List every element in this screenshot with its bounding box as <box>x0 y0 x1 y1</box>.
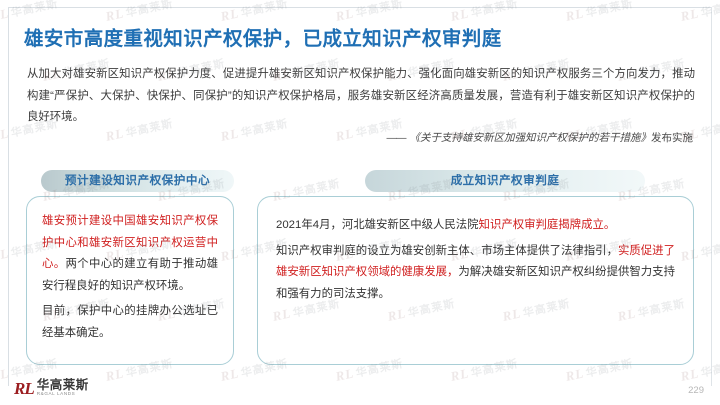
panel-left-paragraph-1-rest: 两个中心的建立有助于推动雄安行程良好的知识产权环境。 <box>42 258 218 292</box>
company-logo: RL 华高莱斯 R&GAL LANDS <box>14 379 89 397</box>
watermark-mark-icon: RL <box>0 5 10 24</box>
watermark-mark-icon: RL <box>0 365 10 384</box>
panel-right-highlight-1: 知识产权审判庭揭牌成立。 <box>479 219 616 231</box>
watermark-text: 华高莱斯 <box>470 0 519 20</box>
intro-attribution: ——《关于支持雄安新区加强知识产权保护的若干措施》发布实施 <box>387 130 694 145</box>
slide-frame-border-right <box>711 7 712 386</box>
watermark-text: 华高莱斯 <box>700 0 720 20</box>
watermark-mark-icon: RL <box>679 5 700 24</box>
panel-card-right: 2021年4月，河北雄安新区中级人民法院知识产权审判庭揭牌成立。 知识产权审判庭… <box>257 196 694 365</box>
watermark-mark-icon: RL <box>679 365 700 384</box>
watermark-tile: RL华高莱斯 <box>679 0 720 25</box>
watermark-tile: RL华高莱斯 <box>564 0 634 25</box>
panel-right-paragraph-2: 知识产权审判庭的设立为雄安创新主体、市场主体提供了法律指引，实质促进了雄安新区知… <box>276 241 675 306</box>
panel-right-body: 2021年4月，河北雄安新区中级人民法院知识产权审判庭揭牌成立。 知识产权审判庭… <box>258 197 693 305</box>
page-title: 雄安市高度重视知识产权保护，已成立知识产权审判庭 <box>24 22 502 51</box>
intro-paragraph: 从加大对雄安新区知识产权保护力度、促进提升雄安新区知识产权保护能力、强化面向雄安… <box>27 64 695 129</box>
watermark-mark-icon: RL <box>564 365 585 384</box>
attribution-dash: —— <box>387 132 406 144</box>
panel-right-paragraph-2-pre: 知识产权审判庭的设立为雄安创新主体、市场主体提供了法律指引， <box>276 245 618 257</box>
watermark-mark-icon: RL <box>334 365 355 384</box>
watermark-mark-icon: RL <box>0 125 10 144</box>
panel-header-right: 成立知识产权审判庭 <box>365 170 645 192</box>
logo-name-en: R&GAL LANDS <box>37 392 89 397</box>
watermark-text: 华高莱斯 <box>700 118 720 140</box>
watermark-mark-icon: RL <box>0 245 10 264</box>
watermark-mark-icon: RL <box>449 365 470 384</box>
watermark-text: 华高莱斯 <box>10 0 59 20</box>
watermark-mark-icon: RL <box>104 365 125 384</box>
panel-left-paragraph-2: 目前，保护中心的挂牌办公选址已经基本确定。 <box>42 301 218 344</box>
watermark-text: 华高莱斯 <box>125 0 174 20</box>
watermark-text: 华高莱斯 <box>585 0 634 20</box>
attribution-document: 《关于支持雄安新区加强知识产权保护的若干措施》 <box>410 132 652 144</box>
panel-left-body: 雄安预计建设中国雄安知识产权保护中心和雄安新区知识产权运营中心。两个中心的建立有… <box>27 197 233 344</box>
panel-header-left: 预计建设知识产权保护中心 <box>41 170 234 192</box>
watermark-text: 华高莱斯 <box>355 0 404 20</box>
logo-mark-icon: RL <box>14 380 34 397</box>
logo-text: 华高莱斯 R&GAL LANDS <box>37 379 89 397</box>
slide-root: 雄安市高度重视知识产权保护，已成立知识产权审判庭 从加大对雄安新区知识产权保护力… <box>0 0 720 405</box>
attribution-tail: 发布实施 <box>651 132 693 144</box>
panel-card-left: 雄安预计建设中国雄安知识产权保护中心和雄安新区知识产权运营中心。两个中心的建立有… <box>26 196 234 365</box>
watermark-text: 华高莱斯 <box>700 238 720 260</box>
page-number: 229 <box>688 385 704 396</box>
watermark-text: 华高莱斯 <box>700 358 720 380</box>
panel-left-paragraph-1: 雄安预计建设中国雄安知识产权保护中心和雄安新区知识产权运营中心。两个中心的建立有… <box>42 211 218 297</box>
panel-right-paragraph-1: 2021年4月，河北雄安新区中级人民法院知识产权审判庭揭牌成立。 <box>276 215 675 237</box>
watermark-mark-icon: RL <box>219 365 240 384</box>
panel-right-paragraph-1-pre: 2021年4月，河北雄安新区中级人民法院 <box>276 219 479 231</box>
watermark-text: 华高莱斯 <box>240 0 289 20</box>
logo-name-cn: 华高莱斯 <box>37 379 89 392</box>
watermark-mark-icon: RL <box>564 5 585 24</box>
